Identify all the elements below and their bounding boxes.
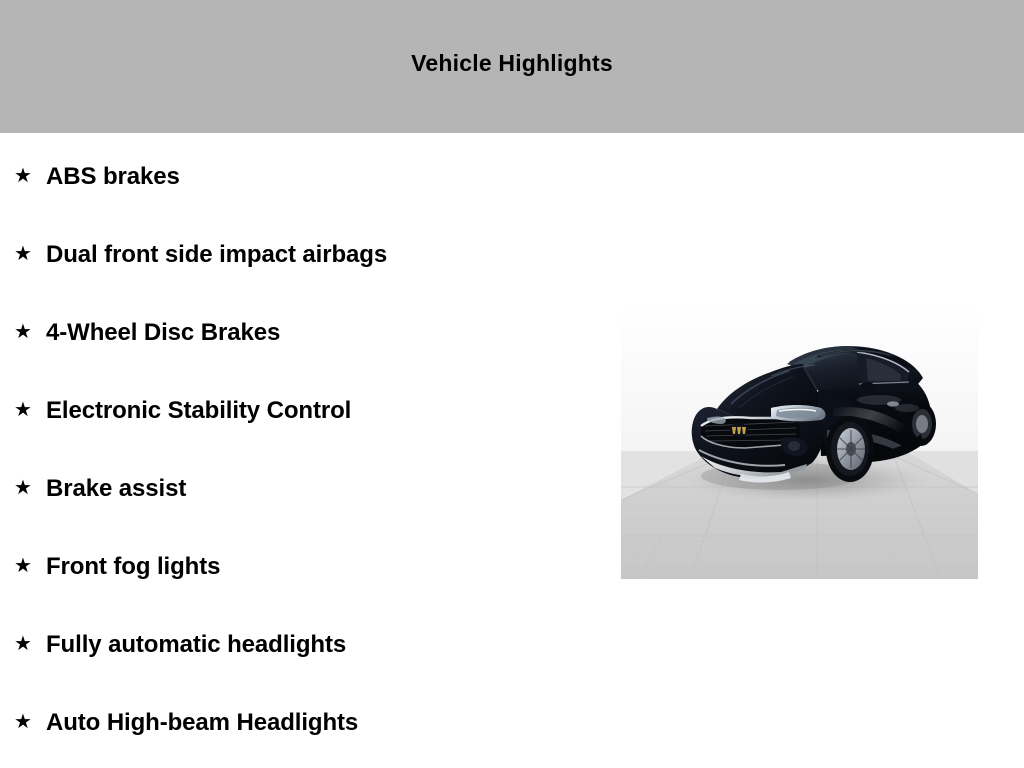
page-title: Vehicle Highlights <box>411 50 613 83</box>
star-bullet-icon: ★ <box>13 166 33 186</box>
highlight-label: Fully automatic headlights <box>46 631 346 659</box>
main-content: ★ ABS brakes ★ Dual front side impact ai… <box>0 133 1024 768</box>
list-item: ★ Electronic Stability Control <box>0 372 620 450</box>
highlight-label: ABS brakes <box>46 163 180 191</box>
list-item: ★ Dual front side impact airbags <box>0 216 620 294</box>
vehicle-photo-image <box>621 304 978 579</box>
star-bullet-icon: ★ <box>13 634 33 654</box>
star-bullet-icon: ★ <box>13 712 33 732</box>
list-item: ★ Fully automatic headlights <box>0 606 620 684</box>
highlight-label: Auto High-beam Headlights <box>46 709 358 737</box>
star-bullet-icon: ★ <box>13 478 33 498</box>
header-band: Vehicle Highlights <box>0 0 1024 133</box>
highlight-label: Front fog lights <box>46 553 220 581</box>
star-bullet-icon: ★ <box>13 244 33 264</box>
star-bullet-icon: ★ <box>13 556 33 576</box>
vehicle-photo <box>621 304 978 579</box>
highlight-label: Brake assist <box>46 475 186 503</box>
list-item: ★ Front fog lights <box>0 528 620 606</box>
vehicle-highlights-page: Vehicle Highlights ★ ABS brakes ★ Dual f… <box>0 0 1024 768</box>
list-item: ★ Brake assist <box>0 450 620 528</box>
highlight-label: Dual front side impact airbags <box>46 241 387 269</box>
star-bullet-icon: ★ <box>13 400 33 420</box>
vehicle-highlights-list: ★ ABS brakes ★ Dual front side impact ai… <box>0 138 620 762</box>
list-item: ★ 4-Wheel Disc Brakes <box>0 294 620 372</box>
star-bullet-icon: ★ <box>13 322 33 342</box>
vehicle-badge <box>730 423 748 437</box>
list-item: ★ ABS brakes <box>0 138 620 216</box>
front-wheel <box>826 416 874 482</box>
list-item: ★ Auto High-beam Headlights <box>0 684 620 762</box>
highlight-label: Electronic Stability Control <box>46 397 351 425</box>
highlight-label: 4-Wheel Disc Brakes <box>46 319 280 347</box>
